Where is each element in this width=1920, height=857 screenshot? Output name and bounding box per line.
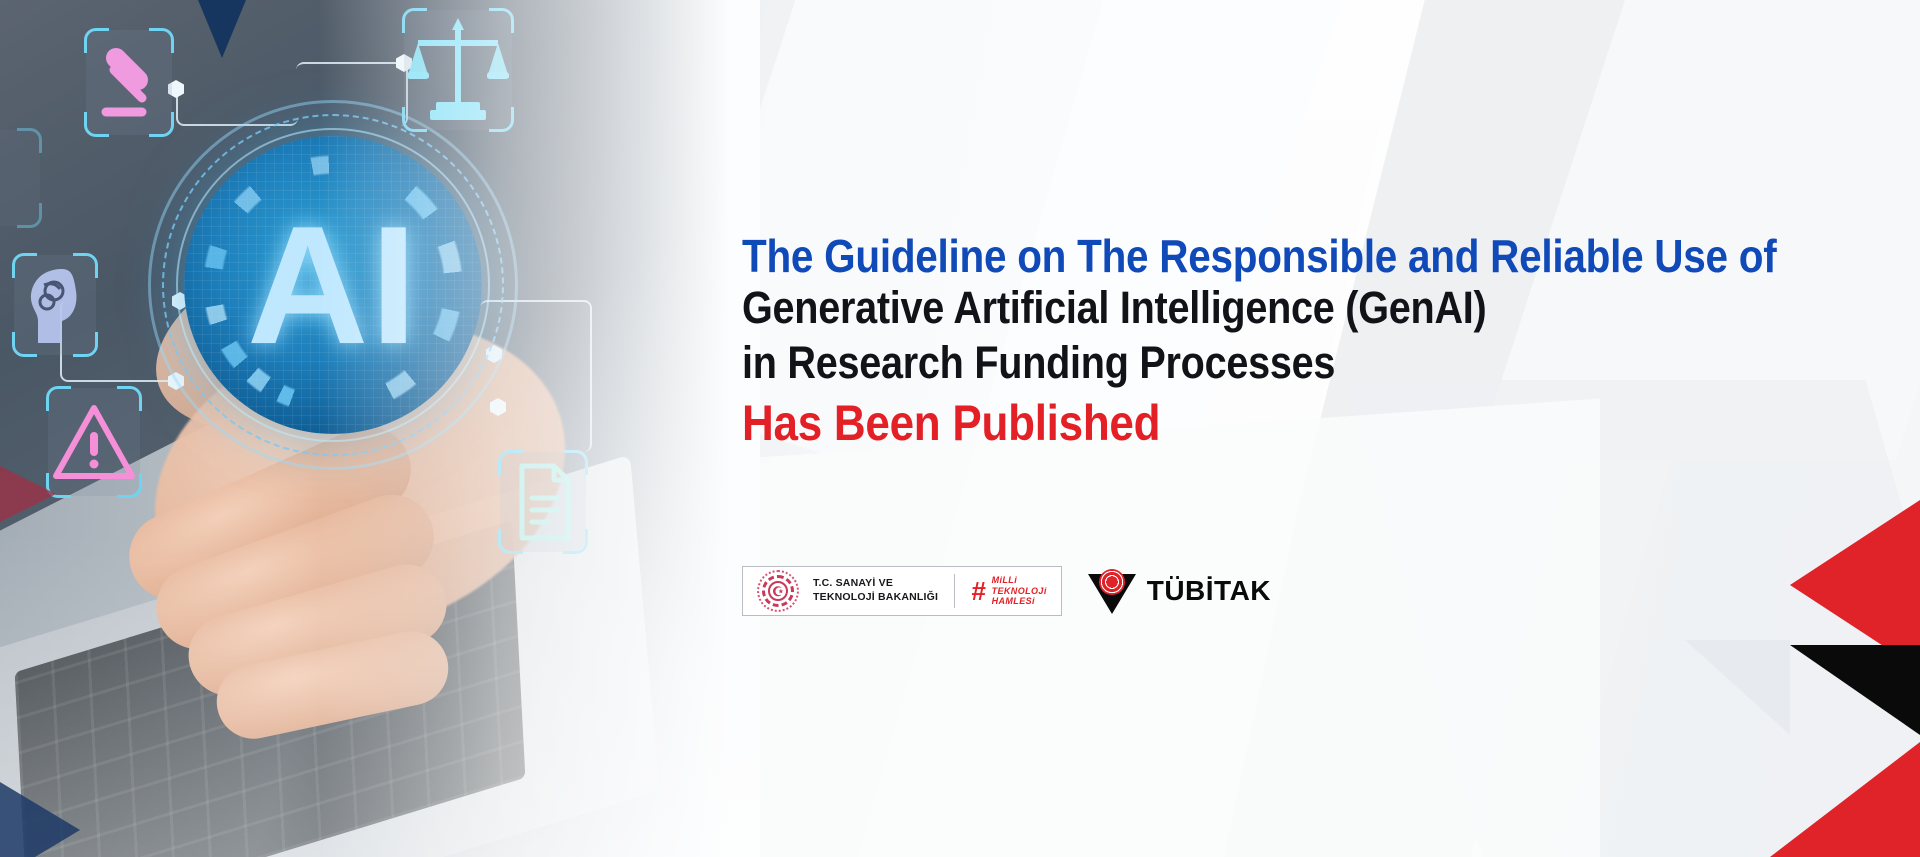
headline-block: The Guideline on The Responsible and Rel… (742, 232, 1862, 456)
gray-triangle-right (1685, 640, 1790, 735)
tubitak-wordmark: TÜBİTAK (1147, 577, 1271, 605)
turkish-ministry-emblem: ☪ (757, 570, 799, 612)
campaign-line-1: MiLLi (992, 575, 1047, 586)
ministry-name: T.C. SANAYİ VE TEKNOLOJİ BAKANLIĞI (813, 577, 938, 605)
ministry-name-line-2: TEKNOLOJİ BAKANLIĞI (813, 591, 938, 605)
headline-line-4: Has Been Published (742, 391, 1728, 456)
announcement-banner: AI (0, 0, 1920, 857)
hashtag-icon: # (971, 578, 985, 604)
navy-triangle-top (160, 0, 284, 58)
headline-line-2: Generative Artificial Intelligence (GenA… (742, 281, 1728, 336)
ministry-name-line-1: T.C. SANAYİ VE (813, 577, 938, 591)
headline-line-3: in Research Funding Processes (742, 336, 1728, 391)
crescent-star-glyph: ☪ (768, 581, 788, 601)
red-triangle-lower-right (1770, 742, 1920, 857)
black-triangle-right (1790, 645, 1920, 735)
campaign-line-2: TEKNOLOJi (992, 586, 1047, 597)
tubitak-mark-icon (1088, 568, 1136, 614)
maroon-triangle-left (0, 418, 56, 570)
navy-triangle-bottom-left (0, 740, 80, 857)
ai-hero-image: AI (0, 0, 760, 857)
background-facet (700, 399, 1600, 857)
ministry-logo: ☪ T.C. SANAYİ VE TEKNOLOJİ BAKANLIĞI # M… (742, 566, 1062, 616)
headline-line-1: The Guideline on The Responsible and Rel… (742, 232, 1728, 281)
tubitak-logo: TÜBİTAK (1088, 568, 1271, 614)
logo-row: ☪ T.C. SANAYİ VE TEKNOLOJİ BAKANLIĞI # M… (742, 566, 1271, 616)
campaign-name: MiLLi TEKNOLOJi HAMLESi (992, 575, 1047, 607)
logo-divider (954, 574, 955, 608)
milli-teknoloji-hamlesi-logo: # MiLLi TEKNOLOJi HAMLESi (971, 575, 1047, 607)
photo-bottom-fade (0, 0, 760, 857)
campaign-line-3: HAMLESi (992, 596, 1047, 607)
